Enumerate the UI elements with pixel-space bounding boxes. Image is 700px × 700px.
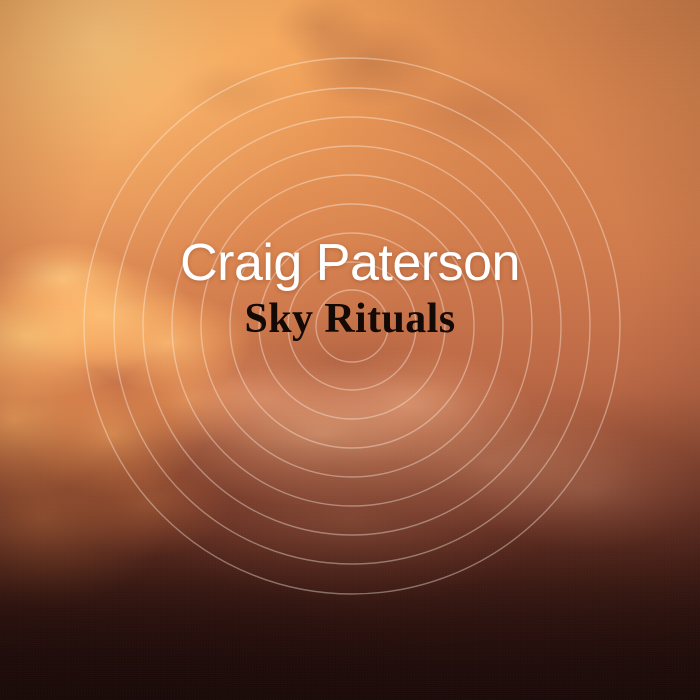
- album-title: Sky Rituals: [0, 297, 700, 342]
- artist-name: Craig Paterson: [0, 236, 700, 291]
- album-cover: Craig Paterson Sky Rituals: [0, 0, 700, 700]
- title-block: Craig Paterson Sky Rituals: [0, 236, 700, 342]
- concentric-rings-graphic: [0, 0, 700, 700]
